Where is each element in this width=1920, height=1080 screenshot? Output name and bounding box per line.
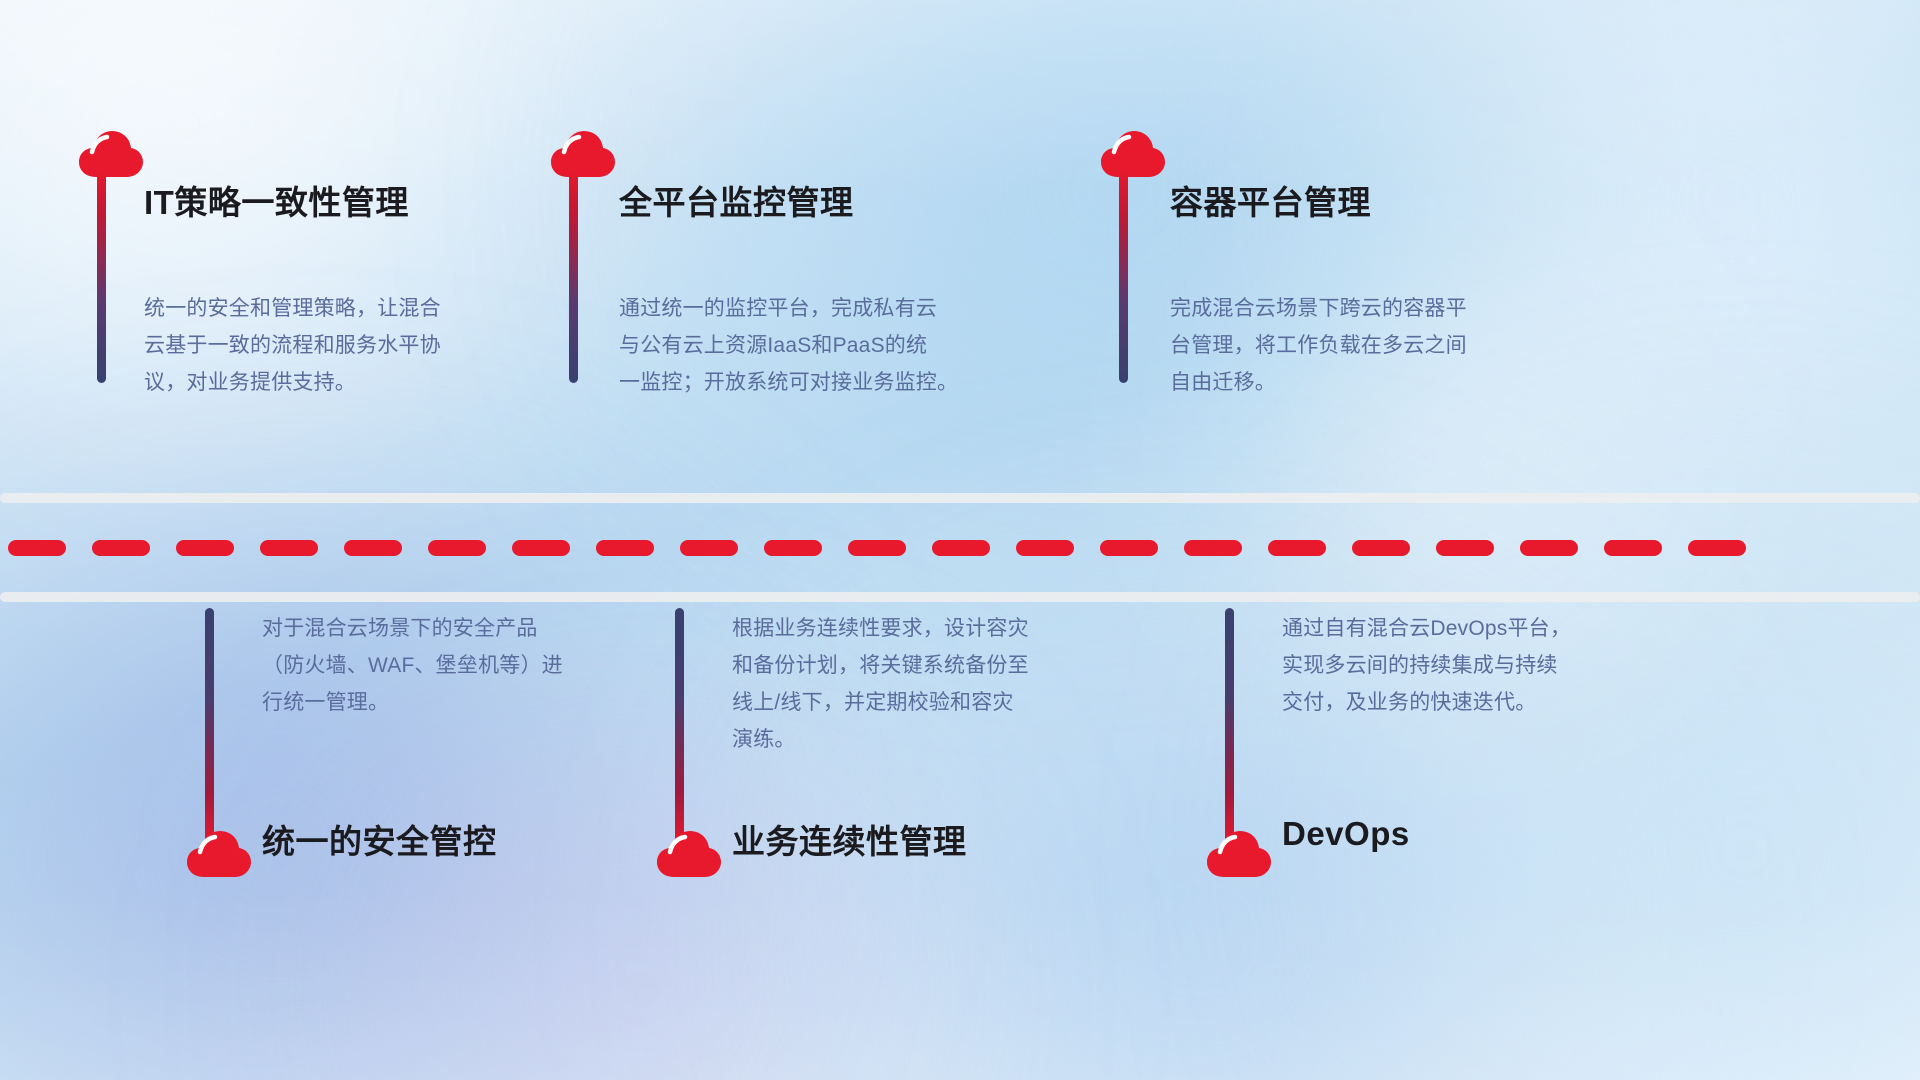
connector-stem [97,168,106,383]
connector-stem [569,168,578,383]
divider-dash-segment [932,540,990,556]
card-devops[interactable]: 通过自有混合云DevOps平台， 实现多云间的持续集成与持续 交付，及业务的快速… [1160,600,1920,1080]
card-business-continuity[interactable]: 根据业务连续性要求，设计容灾 和备份计划，将关键系统备份至 线上/线下，并定期校… [580,600,1160,1080]
card-body: 对于混合云场景下的安全产品 （防火墙、WAF、堡垒机等）进 行统一管理。 [262,610,612,721]
divider-dash-segment [260,540,318,556]
bottom-row: 对于混合云场景下的安全产品 （防火墙、WAF、堡垒机等）进 行统一管理。 统一的… [0,600,1920,1080]
divider-dash-segment [848,540,906,556]
connector-stem [1225,608,1234,846]
divider-dash-segment [1604,540,1662,556]
card-platform-monitoring[interactable]: 全平台监控管理 通过统一的监控平台，完成私有云 与公有云上资源IaaS和PaaS… [580,0,1160,493]
cloud-icon [186,830,252,880]
divider-dash-segment [1268,540,1326,556]
card-title: 业务连续性管理 [732,815,967,863]
connector-stem [1119,168,1128,383]
top-row: IT策略一致性管理 统一的安全和管理策略，让混合 云基于一致的流程和服务水平协 … [0,0,1920,493]
divider-dash-segment [1520,540,1578,556]
card-it-policy[interactable]: IT策略一致性管理 统一的安全和管理策略，让混合 云基于一致的流程和服务水平协 … [0,0,580,493]
card-title: 容器平台管理 [1170,176,1371,224]
divider-dash-segment [428,540,486,556]
card-body: 通过自有混合云DevOps平台， 实现多云间的持续集成与持续 交付，及业务的快速… [1282,610,1632,721]
cloud-icon [550,130,616,180]
divider-dash-segment [176,540,234,556]
divider-dash-segment [1688,540,1746,556]
card-title: 统一的安全管控 [262,815,497,863]
cloud-icon [1206,830,1272,880]
card-body: 完成混合云场景下跨云的容器平 台管理，将工作负载在多云之间 自由迁移。 [1170,290,1540,401]
card-body: 通过统一的监控平台，完成私有云 与公有云上资源IaaS和PaaS的统 一监控；开… [619,290,999,401]
divider-dash-segment [1100,540,1158,556]
divider-dash-segment [92,540,150,556]
connector-stem [205,608,214,846]
card-container-platform[interactable]: 容器平台管理 完成混合云场景下跨云的容器平 台管理，将工作负载在多云之间 自由迁… [1160,0,1920,493]
card-title: IT策略一致性管理 [144,176,409,224]
divider-dash-segment [1352,540,1410,556]
cloud-icon [1100,130,1166,180]
divider-line-upper [0,493,1920,503]
card-title: DevOps [1282,815,1410,853]
cloud-icon [78,130,144,180]
card-unified-security[interactable]: 对于混合云场景下的安全产品 （防火墙、WAF、堡垒机等）进 行统一管理。 统一的… [0,600,580,1080]
divider-dash-segment [1016,540,1074,556]
divider-dashed-red [0,539,1920,557]
divider-dash-segment [512,540,570,556]
cloud-icon [656,830,722,880]
divider-dash-segment [1184,540,1242,556]
card-body: 根据业务连续性要求，设计容灾 和备份计划，将关键系统备份至 线上/线下，并定期校… [732,610,1082,758]
card-title: 全平台监控管理 [619,176,854,224]
divider-dash-segment [8,540,66,556]
connector-stem [675,608,684,846]
divider-dash-segment [680,540,738,556]
divider-dash-segment [344,540,402,556]
card-body: 统一的安全和管理策略，让混合 云基于一致的流程和服务水平协 议，对业务提供支持。 [144,290,514,401]
divider-dash-segment [596,540,654,556]
divider-dash-segment [764,540,822,556]
divider-dash-segment [1436,540,1494,556]
